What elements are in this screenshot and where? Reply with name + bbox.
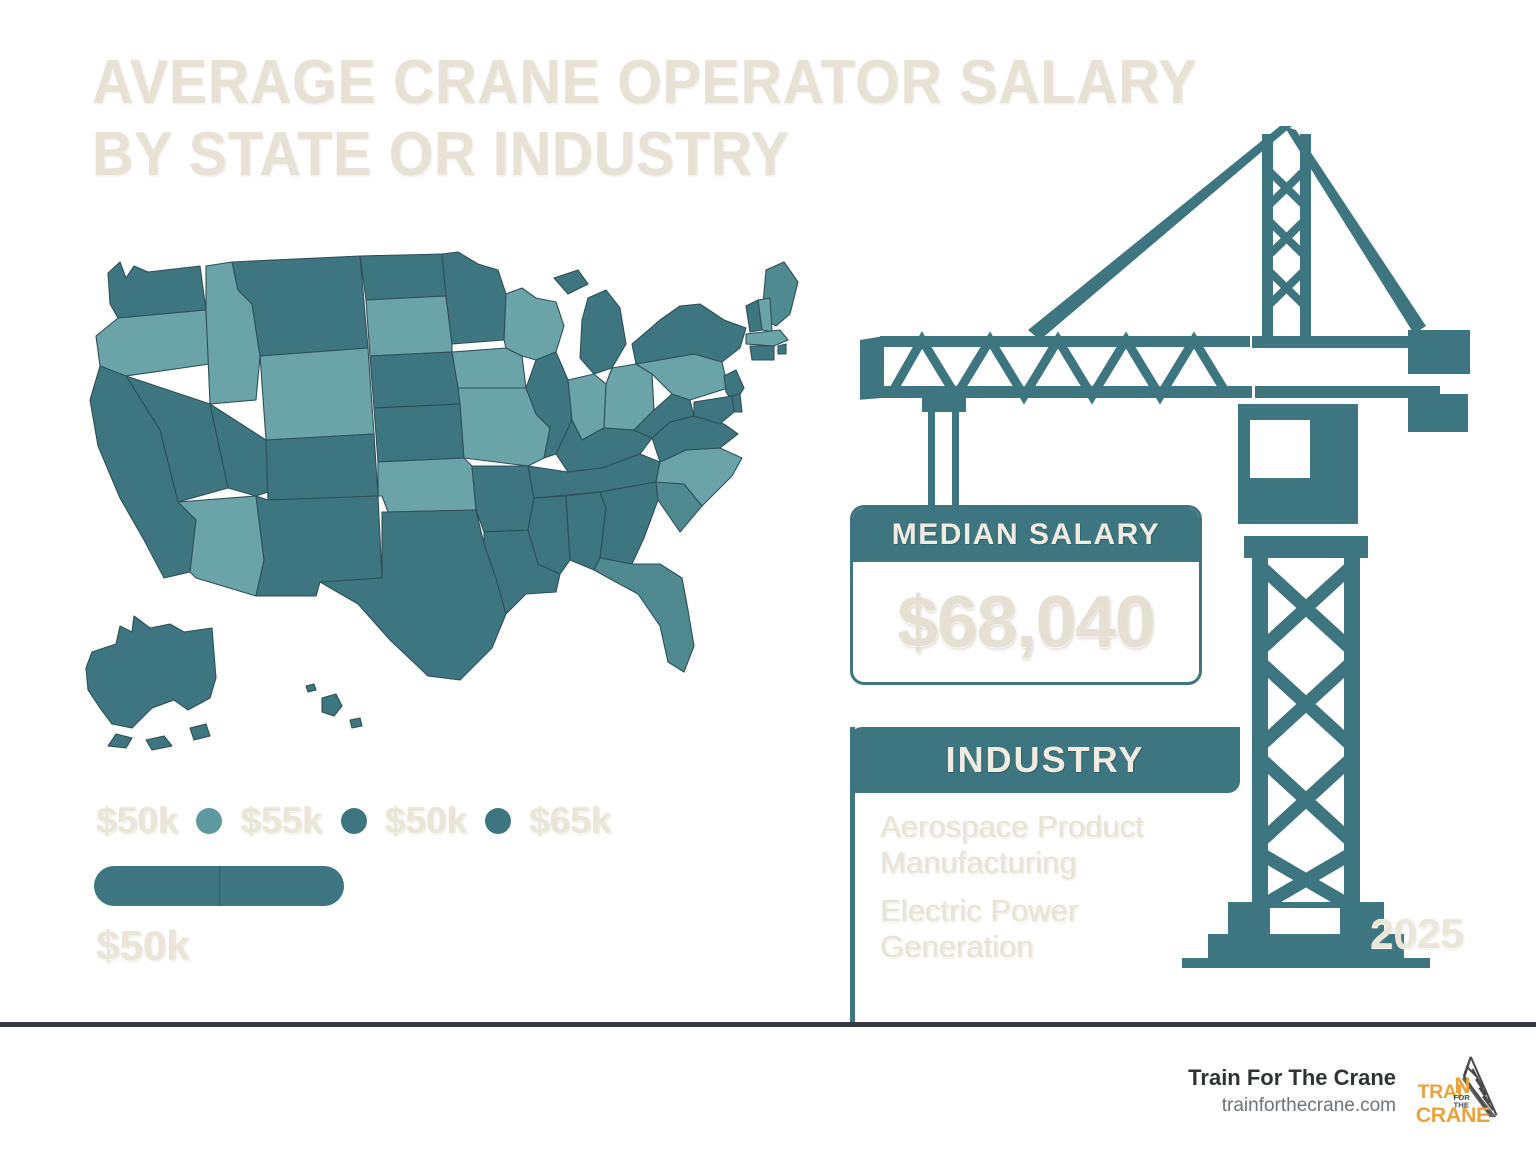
state-ia	[452, 348, 526, 388]
state-ny	[632, 304, 746, 364]
state-mn	[442, 252, 506, 344]
state-ri	[778, 344, 786, 354]
footer: Train For The Crane trainforthecrane.com…	[1188, 1050, 1500, 1132]
state-ak	[86, 616, 216, 750]
state-ok	[378, 458, 476, 512]
state-co	[266, 434, 378, 500]
crane-cab-window	[1250, 420, 1310, 478]
industry-list-item-0: Aerospace Product Manufacturing	[880, 809, 1230, 881]
page-title-line-1: AVERAGE CRANE OPERATOR SALARY	[92, 52, 1196, 114]
median-salary-card: MEDIAN SALARY $68,040	[850, 505, 1202, 685]
industry-list: Aerospace Product Manufacturing Electric…	[880, 809, 1230, 977]
crane-counterweight-lower	[1408, 394, 1468, 432]
crane-apex-mast-left	[1262, 134, 1273, 342]
map-legend: $50k $55k $50k $65k	[96, 800, 611, 842]
footer-divider	[0, 1022, 1536, 1027]
median-salary-card-header: MEDIAN SALARY	[853, 508, 1199, 562]
state-ne	[370, 352, 460, 408]
year-label: 2025	[1370, 910, 1463, 958]
legend-swatch-3	[485, 808, 511, 834]
train-for-the-crane-logo[interactable]: TRAI N FOR THE CRANE	[1414, 1050, 1500, 1132]
crane-apex-mast-right	[1300, 134, 1311, 342]
legend-item-label-0: $50k	[96, 800, 178, 842]
legend-swatch-2	[341, 808, 367, 834]
state-wi	[504, 288, 564, 360]
state-ma	[746, 330, 788, 346]
crane-hoist-rope-right	[952, 398, 959, 518]
state-ks	[374, 404, 464, 462]
state-mi	[554, 270, 626, 374]
legend-swatch-1	[196, 808, 222, 834]
logo-word-crane: CRANE	[1416, 1103, 1490, 1127]
crane-mast-lattice	[1258, 564, 1354, 908]
legend-item-label-3: $65k	[529, 800, 611, 842]
footer-website-url[interactable]: trainforthecrane.com	[1188, 1093, 1396, 1119]
legend-item-label-2: $50k	[385, 800, 467, 842]
crane-base-window	[1270, 908, 1340, 934]
state-or	[96, 310, 210, 376]
footer-text-group: Train For The Crane trainforthecrane.com	[1188, 1063, 1396, 1119]
scale-segment-0	[94, 866, 219, 906]
crane-mast-leg-right	[1344, 558, 1360, 948]
state-fl	[594, 558, 694, 672]
legend-item-label-1: $55k	[240, 800, 322, 842]
crane-trolley	[922, 394, 966, 412]
footer-brand-name: Train For The Crane	[1188, 1063, 1396, 1093]
us-choropleth-map[interactable]	[60, 248, 890, 768]
industry-card: INDUSTRY Aerospace Product Manufacturing…	[850, 727, 1240, 1025]
scale-segment-1	[219, 866, 345, 906]
industry-card-title: INDUSTRY	[946, 739, 1145, 781]
map-color-scale-bar[interactable]	[94, 866, 344, 906]
crane-mast-collar	[1244, 536, 1368, 558]
industry-card-header: INDUSTRY	[850, 727, 1240, 793]
infographic-canvas: AVERAGE CRANE OPERATOR SALARY BY STATE O…	[0, 0, 1536, 1154]
crane-mast-leg-left	[1252, 558, 1268, 948]
crane-apex-tie-front	[1028, 126, 1292, 340]
crane-hoist-rope-left	[928, 398, 935, 518]
state-hi	[306, 684, 362, 728]
median-salary-card-title: MEDIAN SALARY	[892, 518, 1160, 552]
state-nd	[360, 254, 446, 300]
state-ct	[750, 346, 774, 360]
state-sd	[366, 296, 452, 356]
scale-value-label: $50k	[96, 922, 189, 970]
median-salary-value: $68,040	[853, 562, 1199, 682]
state-wa	[108, 262, 206, 318]
state-ar	[472, 466, 534, 532]
industry-list-item-1: Electric Power Generation	[880, 893, 1230, 965]
state-ga	[600, 482, 658, 564]
crane-jib-tip	[860, 336, 884, 398]
crane-counterweight-upper	[1408, 330, 1470, 374]
state-wy	[260, 348, 374, 440]
